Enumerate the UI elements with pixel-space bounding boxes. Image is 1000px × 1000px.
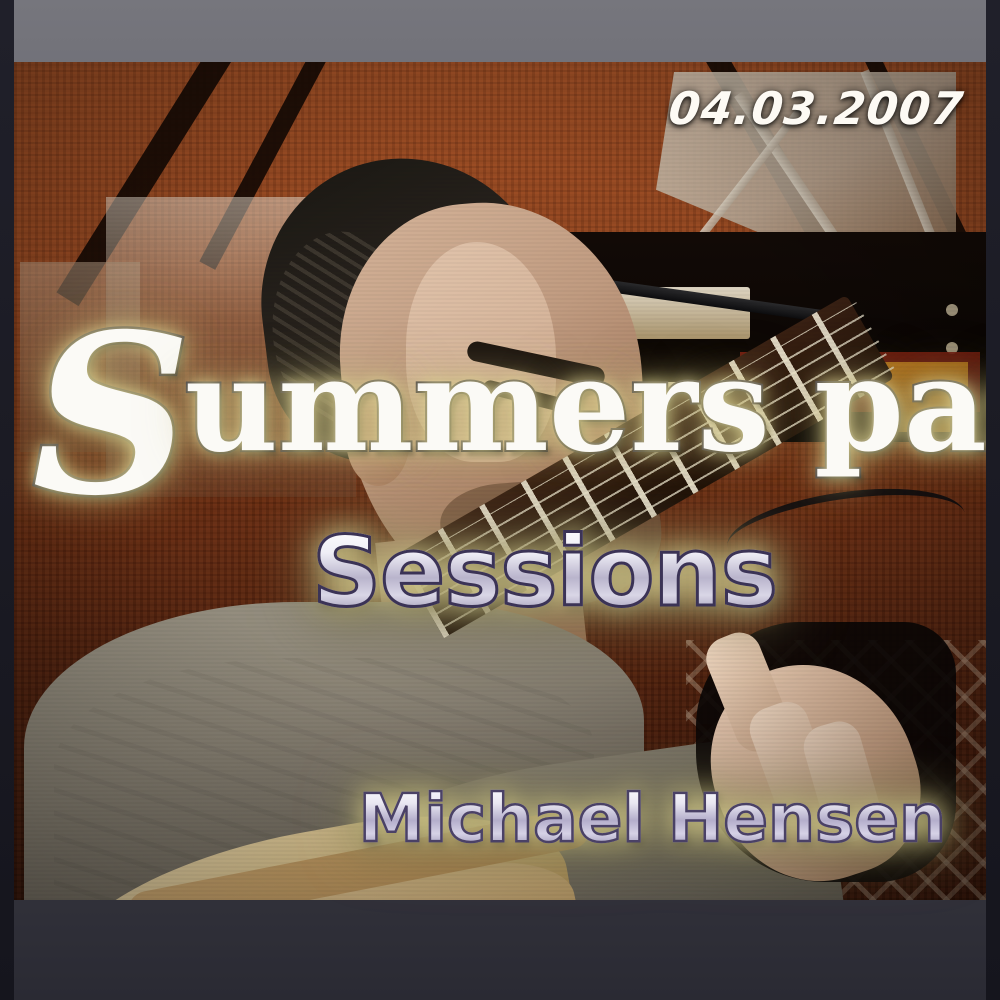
album-title-rest: ummers past (185, 331, 1000, 481)
artist-name: Michael Hensen (359, 786, 946, 852)
album-cover: 04.03.2007 Summers past Sessions Michael… (0, 0, 1000, 1000)
album-title: Summers past (32, 342, 972, 470)
frame-rail-left (0, 0, 14, 1000)
album-title-initial: S (32, 285, 191, 544)
recording-date: 04.03.2007 (667, 82, 967, 135)
frame-rail-right (986, 0, 1000, 1000)
amp-knob (946, 304, 958, 316)
album-subtitle: Sessions (312, 524, 777, 620)
